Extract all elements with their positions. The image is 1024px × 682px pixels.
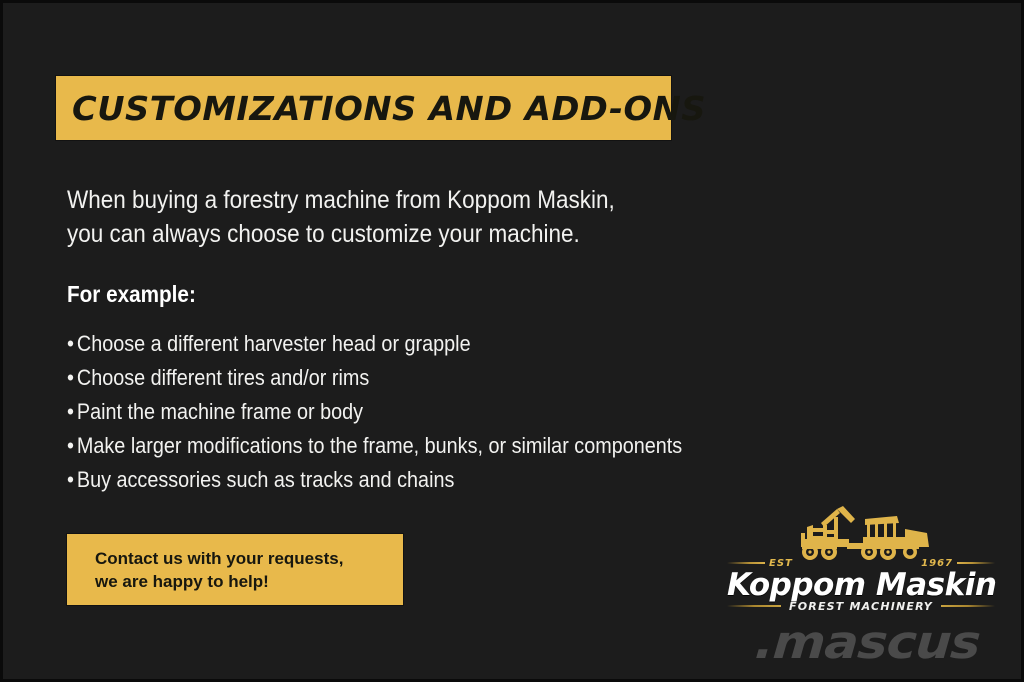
logo-tagline-row: FOREST MACHINERY bbox=[727, 599, 995, 613]
forwarder-machine-icon bbox=[777, 503, 947, 561]
list-item-label: Make larger modifications to the frame, … bbox=[77, 433, 682, 458]
bullet-icon: • bbox=[67, 395, 77, 429]
list-item-label: Choose different tires and/or rims bbox=[77, 365, 369, 390]
list-item-label: Choose a different harvester head or gra… bbox=[77, 331, 471, 356]
list-item-label: Buy accessories such as tracks and chain… bbox=[77, 467, 454, 492]
contact-line-1: Contact us with your requests, bbox=[95, 547, 403, 570]
logo-brand-name: Koppom Maskin bbox=[727, 567, 995, 603]
contact-cta-box[interactable]: Contact us with your requests, we are ha… bbox=[67, 534, 403, 605]
mascus-watermark: .mascus bbox=[753, 615, 981, 669]
logo-tagline: FOREST MACHINERY bbox=[789, 600, 933, 613]
contact-line-2: we are happy to help! bbox=[95, 570, 403, 593]
logo-tagline-rule-right bbox=[941, 605, 995, 607]
list-item-label: Paint the machine frame or body bbox=[77, 399, 363, 424]
list-item: •Buy accessories such as tracks and chai… bbox=[67, 463, 682, 497]
intro-line-2: you can always choose to customize your … bbox=[67, 217, 751, 251]
logo-rule-right bbox=[957, 562, 995, 564]
koppom-maskin-logo: EST 1967 Koppom Maskin FOREST MACHINERY bbox=[727, 503, 995, 615]
list-item: •Choose different tires and/or rims bbox=[67, 361, 682, 395]
page-title: CUSTOMIZATIONS AND ADD-ONS bbox=[72, 89, 706, 128]
header-banner: CUSTOMIZATIONS AND ADD-ONS bbox=[56, 76, 671, 140]
bullet-icon: • bbox=[67, 429, 77, 463]
slide-canvas: CUSTOMIZATIONS AND ADD-ONS When buying a… bbox=[0, 0, 1024, 682]
list-item: •Make larger modifications to the frame,… bbox=[67, 429, 682, 463]
customization-bullet-list: •Choose a different harvester head or gr… bbox=[67, 327, 751, 497]
logo-tagline-rule-left bbox=[727, 605, 781, 607]
list-item: •Choose a different harvester head or gr… bbox=[67, 327, 682, 361]
intro-line-1: When buying a forestry machine from Kopp… bbox=[67, 183, 751, 217]
for-example-label: For example: bbox=[67, 281, 196, 308]
intro-paragraph: When buying a forestry machine from Kopp… bbox=[67, 183, 751, 251]
bullet-icon: • bbox=[67, 327, 77, 361]
list-item: •Paint the machine frame or body bbox=[67, 395, 682, 429]
bullet-icon: • bbox=[67, 463, 77, 497]
logo-rule-left bbox=[727, 562, 765, 564]
bullet-icon: • bbox=[67, 361, 77, 395]
